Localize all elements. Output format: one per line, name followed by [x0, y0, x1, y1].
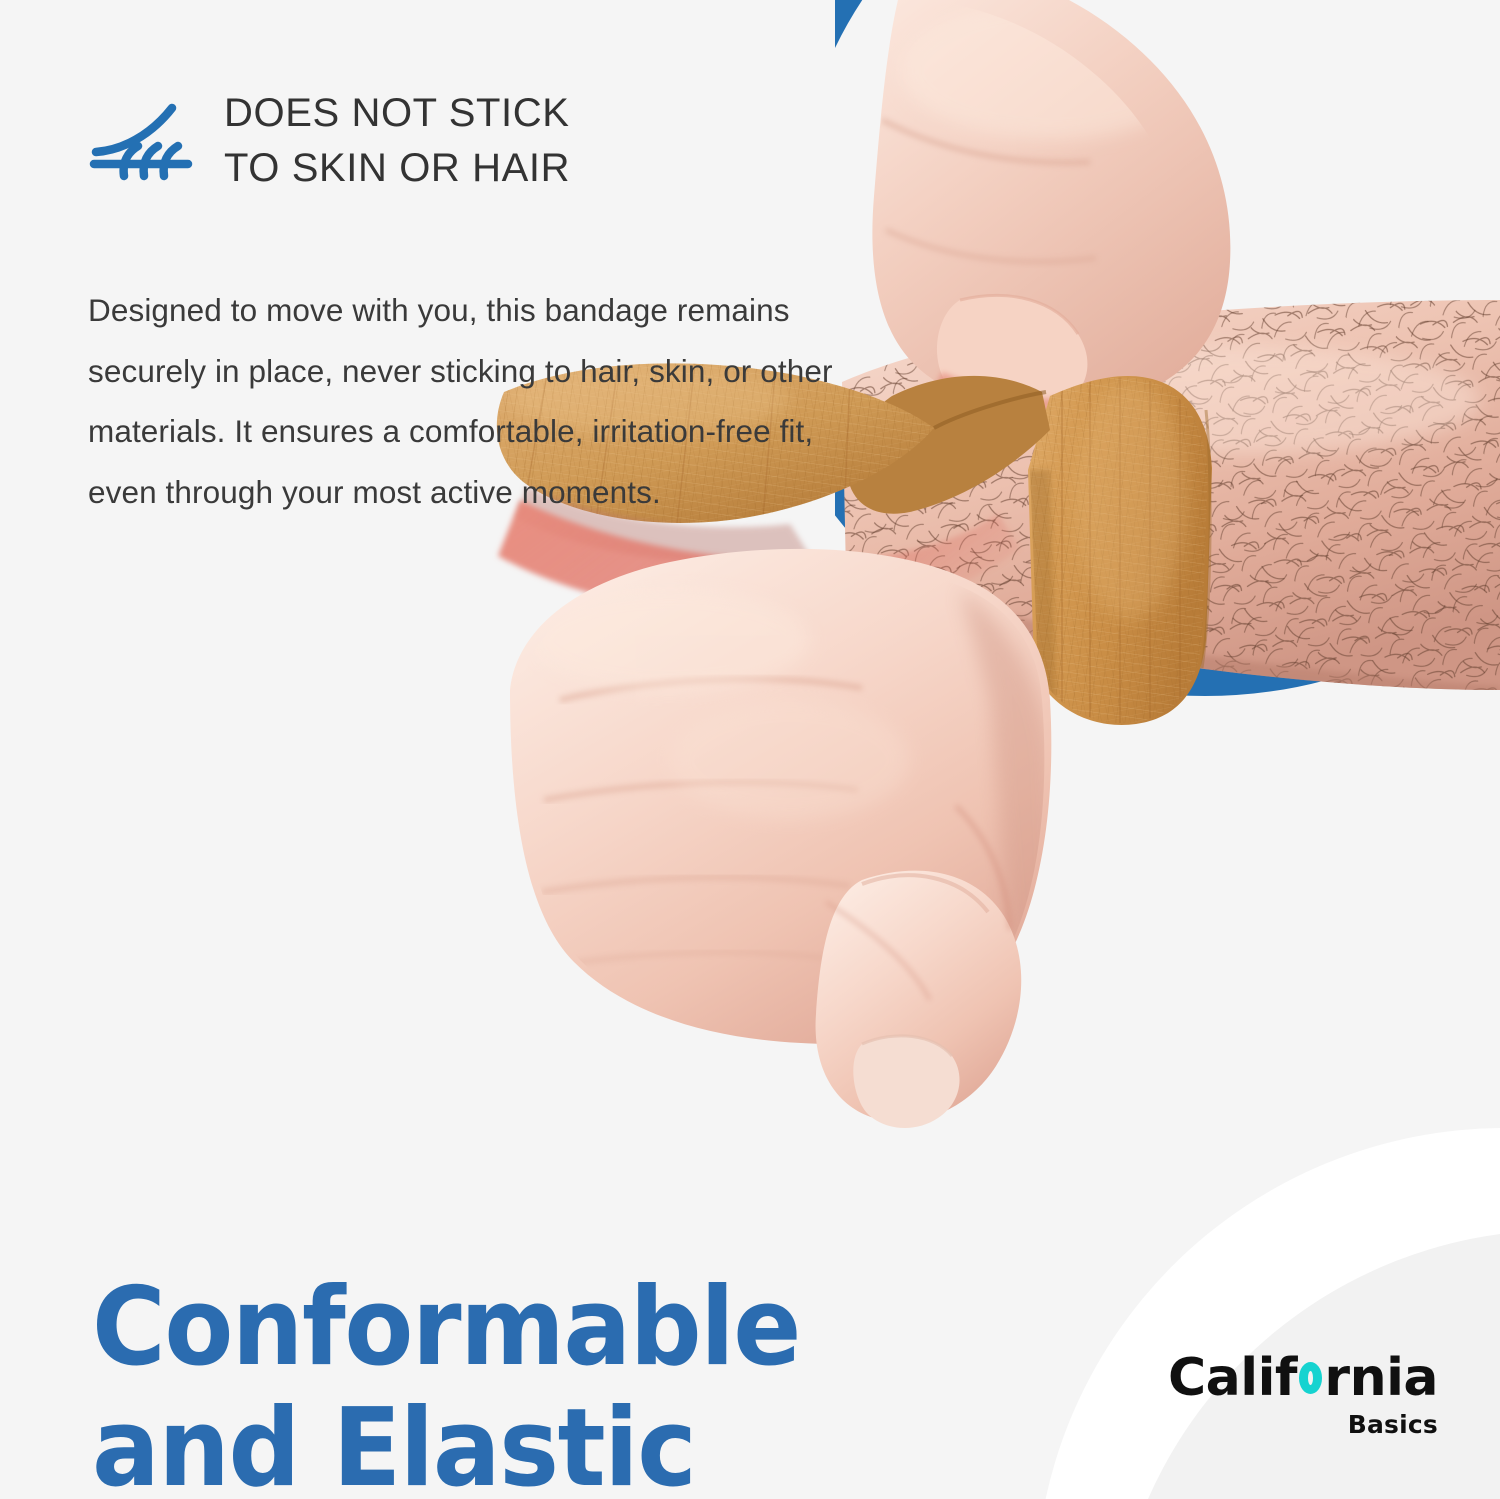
feature-heading-row: DOES NOT STICK TO SKIN OR HAIR [88, 86, 858, 196]
logo-wordmark: Calif rnia [1168, 1352, 1438, 1404]
forearm [830, 290, 1500, 700]
blue-ring-accent [835, 0, 1500, 750]
grasping-hand [872, 0, 1230, 424]
logo-tagline: Basics [1168, 1410, 1438, 1439]
brand-logo: Calif rnia Basics [1168, 1352, 1438, 1439]
teal-ring-letter-o-icon [1299, 1362, 1322, 1394]
logo-text-part-2: rnia [1324, 1352, 1438, 1404]
feature-description: Designed to move with you, this bandage … [88, 280, 848, 522]
logo-text-part-1: Calif [1168, 1352, 1297, 1404]
product-feature-card: DOES NOT STICK TO SKIN OR HAIR Designed … [0, 0, 1500, 1499]
clenched-fist [510, 549, 1056, 1128]
non-stick-bandage-over-hair-icon [88, 94, 196, 190]
main-headline: Conformable and Elastic [92, 1268, 910, 1499]
feature-title: DOES NOT STICK TO SKIN OR HAIR [224, 86, 570, 196]
bandage-wrap-on-arm [1010, 360, 1240, 750]
feature-block: DOES NOT STICK TO SKIN OR HAIR Designed … [88, 86, 858, 522]
